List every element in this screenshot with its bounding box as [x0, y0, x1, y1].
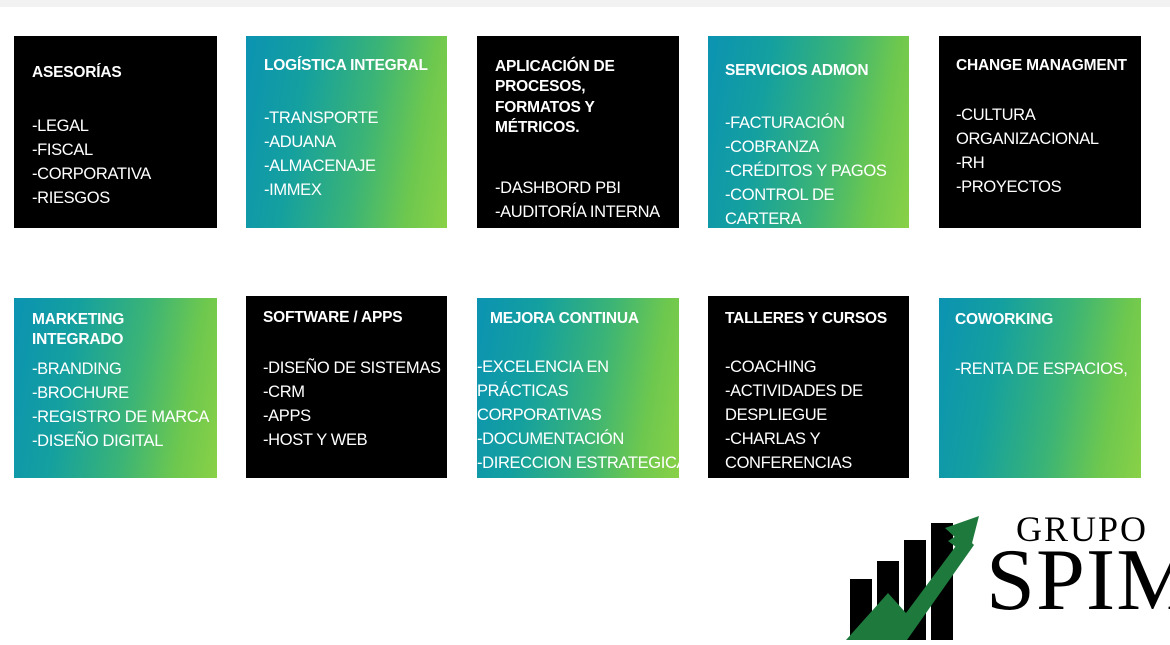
- service-card-change-managment[interactable]: CHANGE MANAGMENT -CULTURA ORGANIZACIONAL…: [939, 36, 1141, 228]
- card-item-list: -CULTURA ORGANIZACIONAL -RH -PROYECTOS: [956, 104, 1099, 200]
- card-title: TALLERES Y CURSOS: [725, 309, 887, 329]
- growth-bars-arrow-icon: [846, 505, 996, 640]
- top-strip: [0, 0, 1170, 7]
- service-card-talleres-y-cursos[interactable]: TALLERES Y CURSOS -COACHING -ACTIVIDADES…: [708, 296, 909, 478]
- service-card-servicios-admon[interactable]: SERVICIOS ADMON -FACTURACIÓN -COBRANZA -…: [708, 36, 909, 228]
- logo-spim-text: SPIM: [986, 537, 1170, 625]
- card-title: COWORKING: [955, 310, 1053, 330]
- service-card-coworking[interactable]: COWORKING -RENTA DE ESPACIOS,: [939, 298, 1141, 478]
- card-item-list: -COACHING -ACTIVIDADES DE DESPLIEGUE -CH…: [725, 356, 935, 476]
- company-logo: GRUPO SPIM: [846, 505, 1166, 640]
- card-item-list: -DASHBORD PBI -AUDITORÍA INTERNA: [495, 177, 660, 225]
- card-item-list: -LEGAL -FISCAL -CORPORATIVA -RIESGOS: [32, 115, 151, 211]
- card-item-list: -RENTA DE ESPACIOS,: [955, 358, 1127, 382]
- card-item-list: -FACTURACIÓN -COBRANZA -CRÉDITOS Y PAGOS…: [725, 112, 909, 232]
- card-item-list: -TRANSPORTE -ADUANA -ALMACENAJE -IMMEX: [264, 107, 378, 203]
- service-card-mejora-continua[interactable]: MEJORA CONTINUA -EXCELENCIA EN PRÁCTICAS…: [477, 298, 679, 478]
- service-card-logistica-integral[interactable]: LOGÍSTICA INTEGRAL -TRANSPORTE -ADUANA -…: [246, 36, 447, 228]
- card-title: MEJORA CONTINUA: [490, 309, 639, 329]
- card-title: SERVICIOS ADMON: [725, 61, 868, 81]
- service-card-marketing-integrado[interactable]: MARKETING INTEGRADO -BRANDING -BROCHURE …: [14, 298, 217, 478]
- service-card-asesorias[interactable]: ASESORÍAS -LEGAL -FISCAL -CORPORATIVA -R…: [14, 36, 217, 228]
- card-item-list: -EXCELENCIA EN PRÁCTICAS CORPORATIVAS -D…: [477, 356, 691, 476]
- card-title: APLICACIÓN DE PROCESOS, FORMATOS Y MÉTRI…: [495, 57, 671, 139]
- logo-wordmark: GRUPO SPIM: [986, 511, 1168, 641]
- card-title: CHANGE MANAGMENT: [956, 56, 1127, 76]
- card-item-list: -DISEÑO DE SISTEMAS -CRM -APPS -HOST Y W…: [263, 357, 441, 453]
- card-title: MARKETING INTEGRADO: [32, 310, 217, 351]
- card-title: ASESORÍAS: [32, 63, 122, 83]
- service-card-aplicacion-de-procesos[interactable]: APLICACIÓN DE PROCESOS, FORMATOS Y MÉTRI…: [477, 36, 679, 228]
- card-title: SOFTWARE / APPS: [263, 308, 402, 328]
- service-card-software-apps[interactable]: SOFTWARE / APPS -DISEÑO DE SISTEMAS -CRM…: [246, 296, 447, 478]
- card-item-list: -BRANDING -BROCHURE -REGISTRO DE MARCA -…: [32, 358, 209, 454]
- card-title: LOGÍSTICA INTEGRAL: [264, 56, 428, 76]
